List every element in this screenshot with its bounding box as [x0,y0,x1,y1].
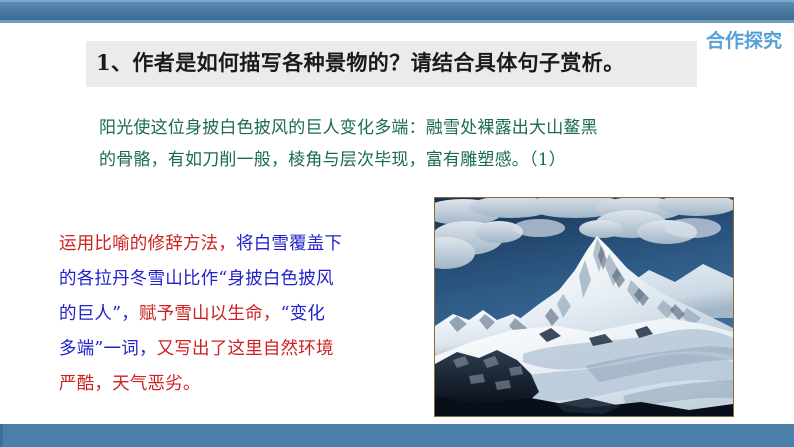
analysis-segment-blue: 多端”一词， [59,339,157,359]
analysis-segment-red: 运用比喻的修辞方法， [59,234,236,254]
analysis-segment-red: 严酷，天气恶劣。 [59,374,201,394]
top-decorative-band [0,0,794,24]
analysis-segment-blue: 的各拉丹冬雪山比作“身披白色披风 [59,269,334,289]
snow-mountain-photo [435,198,733,416]
bottom-decorative-band [0,424,794,447]
analysis-segment-blue: 的巨人”， [59,304,139,324]
top-band-shadow-line [0,20,794,23]
quoted-passage: 阳光使这位身披白色披风的巨人变化多端：融雪处裸露出大山鳌黑 的骨骼，有如刀削一般… [99,112,699,176]
analysis-segment-blue: 将白雪覆盖下 [236,234,342,254]
analysis-segment-blue: “变化 [281,304,326,324]
analysis-line: 运用比喻的修辞方法，将白雪覆盖下 [59,227,424,262]
analysis-line: 的各拉丹冬雪山比作“身披白色披风 [59,262,424,297]
bottom-band-left-edge [0,424,3,447]
quote-line: 的骨骼，有如刀削一般，棱角与层次毕现，富有雕塑感。（1） [99,144,699,176]
section-label-cooperative-inquiry: 合作探究 [706,30,782,52]
analysis-line: 多端”一词，又写出了这里自然环境 [59,332,424,367]
analysis-line: 严酷，天气恶劣。 [59,367,424,402]
mountain-photo-frame [434,197,734,417]
analysis-segment-red: 又写出了这里自然环境 [157,339,334,359]
analysis-line: 的巨人”，赋予雪山以生命，“变化 [59,297,424,332]
analysis-commentary: 运用比喻的修辞方法，将白雪覆盖下的各拉丹冬雪山比作“身披白色披风的巨人”，赋予雪… [59,227,424,402]
analysis-segment-red: 赋予雪山以生命， [139,304,281,324]
quote-line: 阳光使这位身披白色披风的巨人变化多端：融雪处裸露出大山鳌黑 [99,112,699,144]
top-band-fill [0,2,794,20]
question-heading: 1、作者是如何描写各种景物的？请结合具体句子赏析。 [96,48,696,78]
